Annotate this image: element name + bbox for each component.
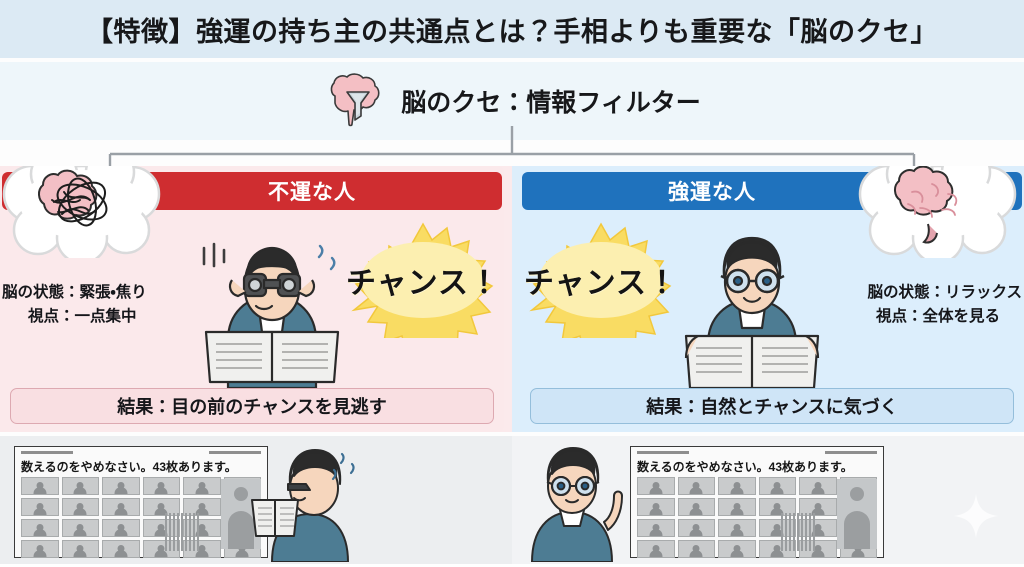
photo-cell: [799, 477, 837, 495]
photo-cell: [678, 540, 716, 558]
infographic-page: 【特徴】強運の持ち主の共通点とは？手相よりも重要な「脳のクセ」 脳のクセ：情報フ…: [0, 0, 1024, 564]
photo-cell: [143, 477, 181, 495]
panel-lucky-viewpoint: 視点：全体を見る: [867, 305, 1022, 329]
photo-cell: [62, 540, 100, 558]
page-title: 【特徴】強運の持ち主の共通点とは？手相よりも重要な「脳のクセ」: [86, 10, 938, 49]
photo-cell: [21, 477, 59, 495]
comparison-panels: 不運な人: [0, 166, 1024, 432]
board-caption-right: 数えるのをやめなさい。43枚あります。: [637, 458, 877, 475]
photo-cell: [62, 477, 100, 495]
photo-cell: [678, 519, 716, 537]
photo-cell: [637, 498, 675, 516]
title-band: 【特徴】強運の持ち主の共通点とは？手相よりも重要な「脳のクセ」: [0, 0, 1024, 58]
panel-unlucky-header-label: 不運な人: [268, 176, 356, 206]
photo-cell: [21, 498, 59, 516]
photo-cell: [718, 540, 756, 558]
stressed-man-with-binoculars-icon: [188, 228, 356, 388]
bottom-left-scene: 数えるのをやめなさい。43枚あります。: [0, 436, 512, 564]
photo-cell: [678, 498, 716, 516]
photo-cell: [102, 498, 140, 516]
panel-unlucky-state: 脳の状態：緊張・焦り: [2, 284, 147, 301]
filter-label: 脳のクセ：情報フィルター: [401, 83, 701, 119]
tangled-brain-icon: [0, 166, 182, 258]
man-pointing-at-board-icon: [518, 444, 638, 562]
panel-unlucky-annotations: 脳の状態：緊張・焦り 視点：一点集中: [2, 281, 147, 329]
photo-cell: [759, 477, 797, 495]
panel-lucky-state: 脳の状態：リラックス: [867, 284, 1022, 301]
photo-cell: [718, 477, 756, 495]
bottom-strip: 数えるのをやめなさい。43枚あります。: [0, 436, 1024, 564]
barcode-stripe: [165, 513, 199, 551]
panel-lucky-result-label: 結果：自然とチャンスに気づく: [646, 393, 897, 419]
barcode-stripe: [781, 513, 815, 551]
photo-board-right: 数えるのをやめなさい。43枚あります。: [630, 446, 884, 558]
chance-burst-right: チャンス！: [512, 222, 692, 338]
chance-burst-left: チャンス！: [332, 222, 512, 338]
chance-label-left: チャンス！: [332, 222, 512, 338]
photo-cell: [102, 519, 140, 537]
panel-unlucky-result-label: 結果：目の前のチャンスを見逃す: [117, 393, 386, 419]
panel-unlucky: 不運な人: [0, 166, 512, 432]
bottom-right-scene: 数えるのをやめなさい。43枚あります。: [512, 436, 1024, 564]
photo-board-left: 数えるのをやめなさい。43枚あります。: [14, 446, 268, 558]
board-header-lines-right: [637, 451, 877, 456]
calm-brain-icon: [842, 166, 1024, 258]
panel-unlucky-viewpoint: 視点：一点集中: [2, 305, 147, 329]
panel-lucky-annotations: 脳の状態：リラックス 視点：全体を見る: [867, 281, 1022, 329]
relaxed-man-with-glasses-icon: [668, 228, 836, 388]
board-header-lines-left: [21, 451, 261, 456]
photo-cell: [62, 498, 100, 516]
brain-funnel-icon: [323, 72, 389, 130]
photo-cell: [183, 477, 221, 495]
panel-lucky: 強運な人: [512, 166, 1024, 432]
panel-lucky-result: 結果：自然とチャンスに気づく: [530, 388, 1014, 424]
man-counting-photos-icon: [250, 444, 370, 562]
photo-cell: [102, 540, 140, 558]
photo-cell: [637, 540, 675, 558]
board-caption-left: 数えるのをやめなさい。43枚あります。: [21, 458, 261, 475]
sparkle-icon: [954, 494, 998, 538]
photo-cell: [102, 477, 140, 495]
panel-lucky-header-label: 強運な人: [668, 176, 756, 206]
photo-cell: [21, 519, 59, 537]
filter-band: 脳のクセ：情報フィルター: [0, 62, 1024, 140]
photo-cell: [62, 519, 100, 537]
panel-unlucky-result: 結果：目の前のチャンスを見逃す: [10, 388, 494, 424]
photo-cell: [637, 519, 675, 537]
silhouette-figure: [837, 479, 877, 549]
photo-cell: [718, 519, 756, 537]
photo-cell: [678, 477, 716, 495]
photo-cell: [637, 477, 675, 495]
chance-label-right: チャンス！: [512, 222, 692, 338]
photo-cell: [21, 540, 59, 558]
photo-cell: [718, 498, 756, 516]
